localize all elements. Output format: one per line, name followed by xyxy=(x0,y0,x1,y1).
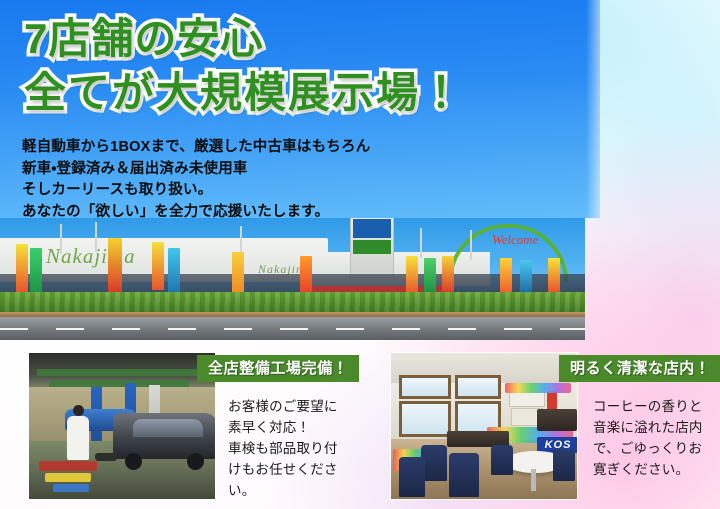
showroom-window xyxy=(455,375,501,399)
showroom-window xyxy=(399,375,451,399)
promo-banner xyxy=(500,258,512,292)
car-window xyxy=(133,419,203,437)
pylon-sign-mid xyxy=(353,240,391,254)
service-garage-photo xyxy=(28,352,216,500)
light-pole xyxy=(420,228,422,258)
feature-text-line: コーヒーの香りと xyxy=(593,396,703,417)
dealership-lot-photo: Nakajima Nakajima Welcome xyxy=(0,218,585,340)
feature-panel-showroom: KOS 明るく清潔な店内！ コーヒーの香りと 音楽に溢れた店内 で、ごゆっくりお… xyxy=(390,352,710,500)
light-pole xyxy=(470,230,472,260)
feature-text-line: 車検も部品取り付 xyxy=(228,438,338,459)
showroom-chair xyxy=(399,457,425,497)
feature-text-line: お客様のご要望に xyxy=(228,396,338,417)
showroom-chair xyxy=(491,445,513,475)
badge-showroom: 明るく清潔な店内！ xyxy=(559,355,720,382)
feature-text-showroom: コーヒーの香りと 音楽に溢れた店内 で、ごゆっくりお 寛ぎください。 xyxy=(593,396,703,480)
showroom-interior-photo: KOS xyxy=(390,352,578,500)
showroom-chair xyxy=(449,453,479,497)
promo-banner xyxy=(424,258,436,294)
display-counter xyxy=(537,409,577,431)
feature-text-line: 寛ぎください。 xyxy=(593,459,703,480)
promo-banner xyxy=(16,244,28,292)
promo-banner xyxy=(520,260,532,292)
mechanic-head xyxy=(73,405,84,416)
lead-copy-line-4: あなたの「欲しい」を全力で応援いたします。 xyxy=(22,203,370,223)
car-wheel xyxy=(125,453,142,470)
lead-copy-line-1: 軽自動車から1BOXまで、厳選した中古車はもちろん xyxy=(22,138,370,158)
garage-beam xyxy=(49,380,189,387)
promo-banner xyxy=(108,238,122,292)
page-title: 7店舗の安心 全てが大規模展示場！ xyxy=(24,14,584,118)
spare-tyre xyxy=(95,453,117,461)
promo-banner xyxy=(406,256,418,294)
welcome-arch-text: Welcome xyxy=(492,232,538,248)
headline-line-2: 全てが大規模展示場！ xyxy=(24,68,584,118)
tool-cart xyxy=(39,461,97,471)
lead-copy-block: 軽自動車から1BOXまで、厳選した中古車はもちろん 新車・登録済み＆届出済み未使… xyxy=(22,138,370,224)
feature-text-line: 音楽に溢れた店内 xyxy=(593,417,703,438)
lead-copy-line-3: そしカーリースも取り扱い。 xyxy=(22,181,370,201)
garage-beam xyxy=(37,369,207,376)
promo-banner xyxy=(548,258,560,292)
mechanic-body xyxy=(67,416,89,460)
light-pole xyxy=(95,222,97,252)
feature-text-line: い。 xyxy=(228,480,338,501)
parts-box xyxy=(45,473,91,482)
product-shelf xyxy=(505,383,571,393)
advertisement-page: 7店舗の安心 全てが大規模展示場！ 軽自動車から1BOXまで、厳選した中古車はも… xyxy=(0,0,720,509)
promo-banner xyxy=(152,242,164,290)
promo-banner xyxy=(300,256,312,296)
feature-text-service: お客様のご要望に 素早く対応！ 車検も部品取り付 けもお任せくださ い。 xyxy=(228,396,338,501)
road xyxy=(0,317,585,340)
lead-copy-line-2: 新車・登録済み＆届出済み未使用車 xyxy=(22,160,370,180)
promo-banner xyxy=(30,248,42,296)
promo-banner xyxy=(442,256,454,294)
car-wheel xyxy=(187,453,204,470)
parts-box xyxy=(53,484,89,492)
feature-text-line: 素早く対応！ xyxy=(228,417,338,438)
showroom-chair xyxy=(553,449,575,481)
pylon-sign xyxy=(350,218,394,278)
table-pedestal xyxy=(531,469,536,491)
badge-service: 全店整備工場完備！ xyxy=(197,355,359,382)
light-pole xyxy=(60,224,62,254)
feature-panel-service: 全店整備工場完備！ お客様のご要望に 素早く対応！ 車検も部品取り付 けもお任せ… xyxy=(28,352,348,500)
feature-text-line: で、ごゆっくりお xyxy=(593,438,703,459)
headline-line-1: 7店舗の安心 xyxy=(24,14,584,64)
showroom-window xyxy=(399,401,451,437)
feature-text-line: けもお任せくださ xyxy=(228,459,338,480)
roadside-hedge xyxy=(0,292,585,314)
promo-banner xyxy=(168,248,180,296)
